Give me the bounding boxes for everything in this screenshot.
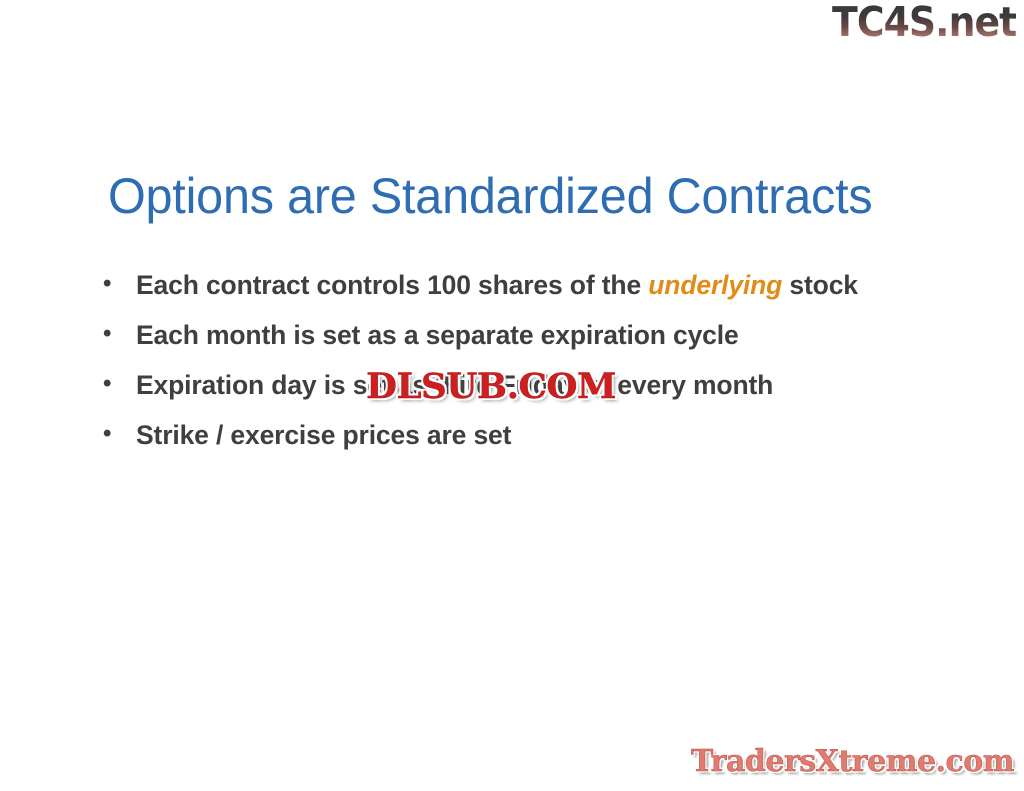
list-item-emphasis: underlying — [648, 270, 782, 300]
presentation-slide: TC4S.net Options are Standardized Contra… — [0, 0, 1024, 791]
list-item-text-prefix: Each contract controls 100 shares of the — [136, 270, 648, 300]
list-item: • Each contract controls 100 shares of t… — [98, 268, 928, 303]
bullet-marker-icon: • — [98, 318, 136, 350]
dlsub-watermark: DLSUB.COM — [366, 369, 616, 404]
bullet-marker-icon: • — [98, 368, 136, 400]
list-item-text: Each contract controls 100 shares of the… — [136, 268, 926, 303]
tradersxtreme-footer-logo: TradersXtreme.com — [691, 747, 1014, 777]
bullet-marker-icon: • — [98, 418, 136, 450]
list-item-text-prefix: Strike / exercise prices are set — [136, 420, 511, 450]
list-item-text: Each month is set as a separate expirati… — [136, 318, 926, 353]
list-item-text-suffix: stock — [782, 270, 858, 300]
list-item-text-prefix: Each month is set as a separate expirati… — [136, 320, 739, 350]
page-title: Options are Standardized Contracts — [108, 167, 872, 225]
tc4s-brand-logo: TC4S.net — [832, 2, 1016, 43]
bullet-marker-icon: • — [98, 268, 136, 300]
list-item: • Each month is set as a separate expira… — [98, 318, 928, 353]
list-item: • Strike / exercise prices are set — [98, 418, 928, 453]
list-item-text: Strike / exercise prices are set — [136, 418, 926, 453]
